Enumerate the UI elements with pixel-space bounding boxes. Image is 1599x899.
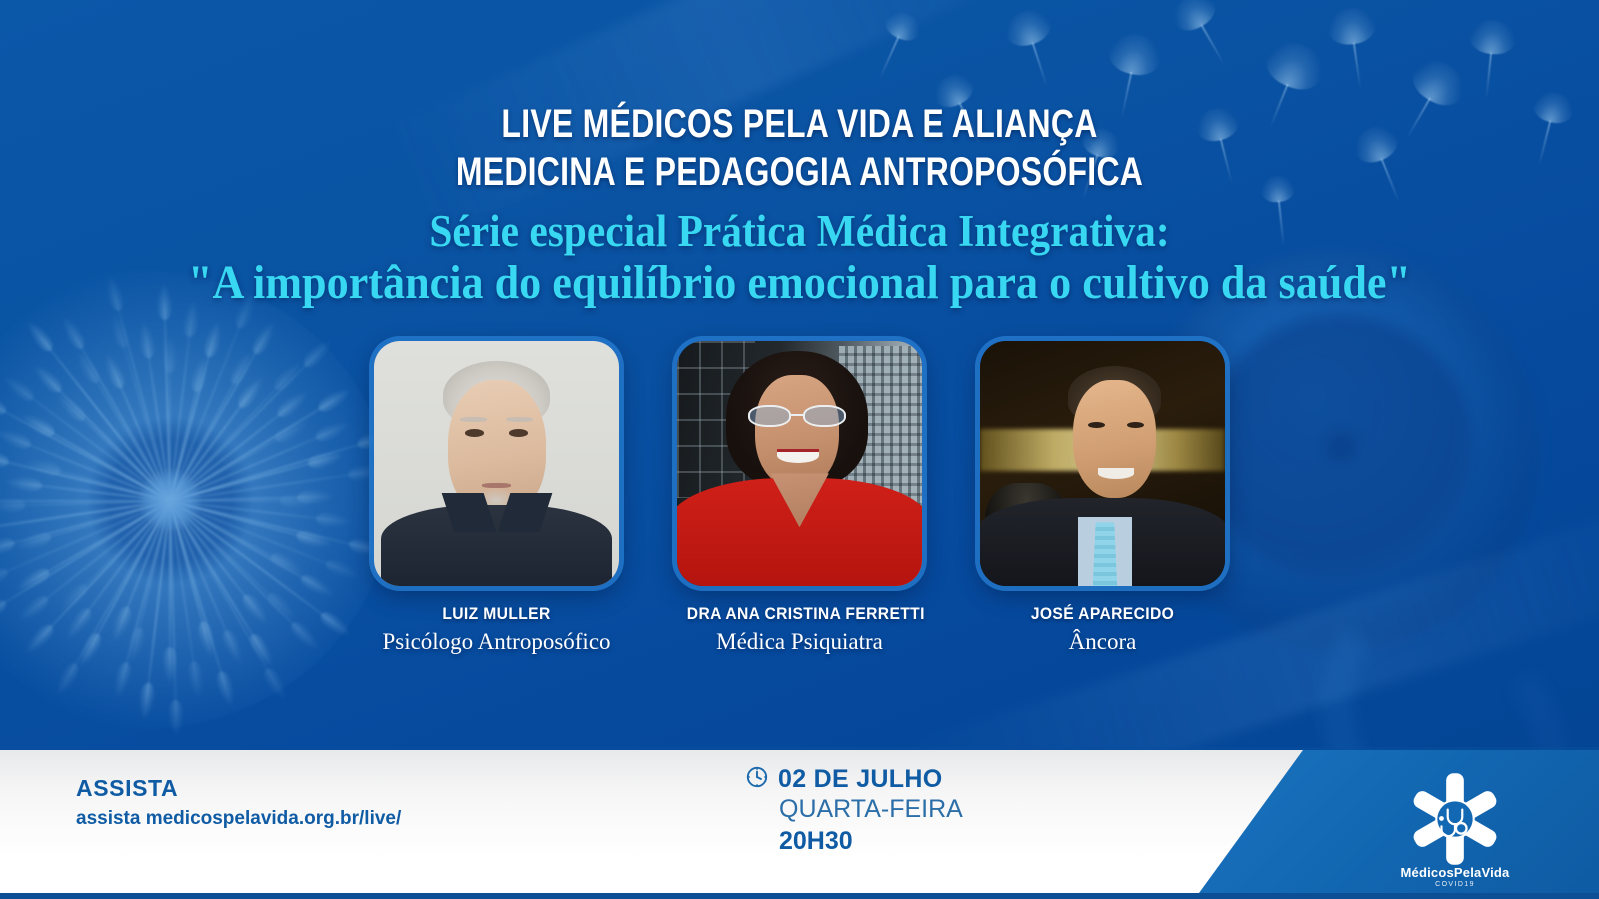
clock-icon [745,765,769,794]
webinar-poster: LIVE MÉDICOS PELA VIDA E ALIANÇA MEDICIN… [0,0,1599,899]
watch-block: ASSISTA assista medicospelavida.org.br/l… [76,775,401,830]
watch-label: ASSISTA [76,775,401,802]
speakers-row: LUIZ MULLER Psicólogo Antroposófico DRA … [0,341,1599,655]
event-date: 02 DE JULHO [778,765,942,794]
speaker-card-2: DRA ANA CRISTINA FERRETTI Médica Psiquia… [677,341,922,655]
watch-url[interactable]: assista medicospelavida.org.br/live/ [76,808,401,830]
datetime-block: 02 DE JULHO QUARTA-FEIRA 20H30 [745,765,963,856]
poster-subtitle: Série especial Prática Médica Integrativ… [0,205,1599,309]
title-line-1: LIVE MÉDICOS PELA VIDA E ALIANÇA [160,100,1439,148]
speaker-name-3: JOSÉ APARECIDO [990,604,1215,624]
star-of-life-stethoscope-icon [1403,767,1507,871]
speaker-name-1: LUIZ MULLER [384,604,609,624]
brand-logo: MédicosPelaVida COVID19 [1389,767,1521,888]
poster-footer: ASSISTA assista medicospelavida.org.br/l… [0,747,1599,899]
poster-title: LIVE MÉDICOS PELA VIDA E ALIANÇA MEDICIN… [0,100,1599,196]
subtitle-line-2: "A importância do equilíbrio emocional p… [64,257,1535,309]
title-line-2: MEDICINA E PEDAGOGIA ANTROPOSÓFICA [160,148,1439,196]
speaker-photo-3 [980,341,1225,586]
speaker-role-2: Médica Psiquiatra [677,629,922,655]
event-time: 20H30 [779,827,963,856]
event-weekday: QUARTA-FEIRA [779,795,963,824]
speaker-photo-2 [677,341,922,586]
speaker-card-3: JOSÉ APARECIDO Âncora [980,341,1225,655]
footer-bottom-bar [0,893,1599,899]
speaker-card-1: LUIZ MULLER Psicólogo Antroposófico [374,341,619,655]
brand-sub: COVID19 [1389,881,1521,888]
speaker-role-3: Âncora [980,629,1225,655]
subtitle-line-1: Série especial Prática Médica Integrativ… [64,205,1535,257]
speaker-name-2: DRA ANA CRISTINA FERRETTI [687,604,912,624]
speaker-photo-1 [374,341,619,586]
speaker-role-1: Psicólogo Antroposófico [374,629,619,655]
footer-divider [0,747,1599,750]
